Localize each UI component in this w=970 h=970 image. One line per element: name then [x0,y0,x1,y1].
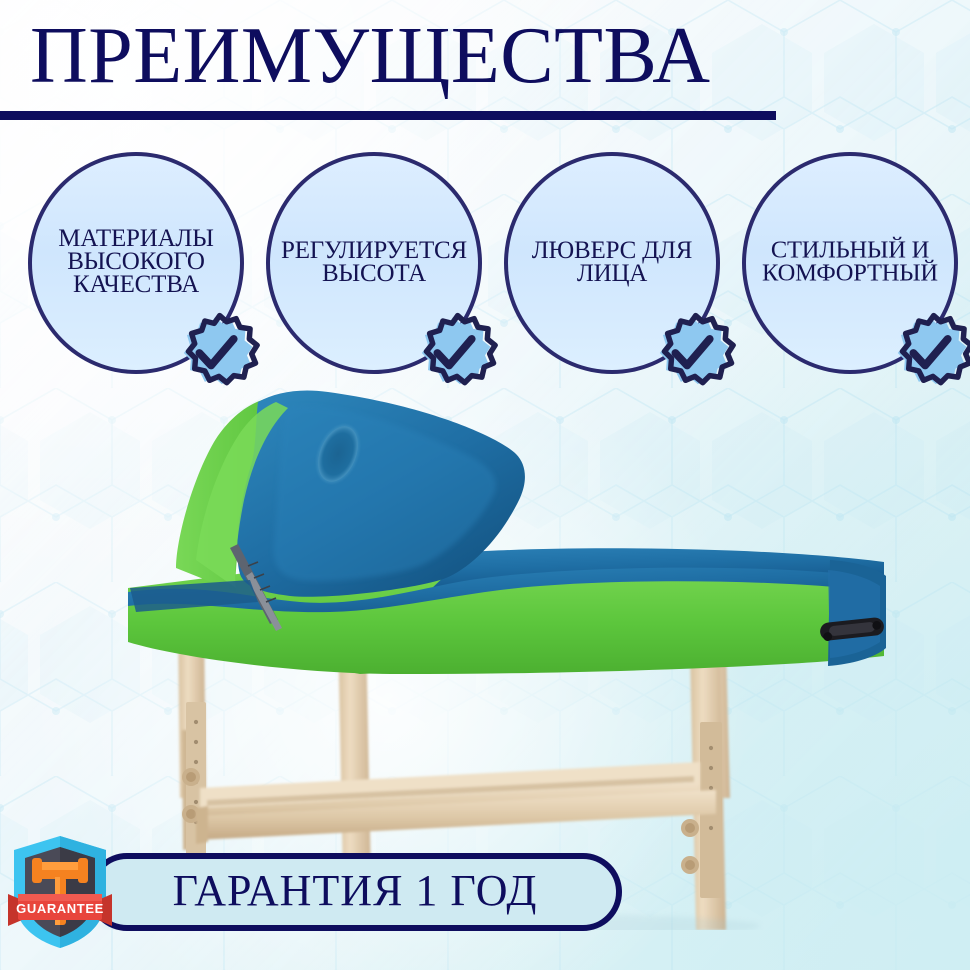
guarantee-shield-gavel-icon: GUARANTEE [8,832,112,950]
guarantee-badge-text: GUARANTEE [16,901,104,916]
feature-line: КОМФОРТНЫЙ [740,262,960,285]
features-row: МАТЕРИАЛЫ ВЫСОКОГО КАЧЕСТВА РЕГУЛИРУЕТСЯ… [0,152,970,382]
feature-circle-adjustable-height[interactable]: РЕГУЛИРУЕТСЯ ВЫСОТА [266,152,482,374]
product-image-massage-table [0,330,970,930]
feature-line: ЛЮВЕРС ДЛЯ [502,239,722,262]
title-underline-rule [0,111,776,120]
feature-label-face-grommet: ЛЮВЕРС ДЛЯ ЛИЦА [502,239,722,285]
guarantee-pill[interactable]: ГАРАНТИЯ 1 ГОД [88,853,622,931]
feature-circle-face-grommet[interactable]: ЛЮВЕРС ДЛЯ ЛИЦА [504,152,720,374]
feature-line: КАЧЕСТВА [26,273,246,296]
feature-line: РЕГУЛИРУЕТСЯ [264,239,484,262]
guarantee-label: ГАРАНТИЯ 1 ГОД [94,859,616,925]
feature-line: ВЫСОТА [264,262,484,285]
feature-line: ВЫСОКОГО [26,250,246,273]
check-badge-icon [414,314,492,392]
check-badge-icon [176,314,254,392]
check-badge-icon [652,314,730,392]
feature-circle-stylish-comfortable[interactable]: СТИЛЬНЫЙ И КОМФОРТНЫЙ [742,152,958,374]
feature-label-stylish-comfortable: СТИЛЬНЫЙ И КОМФОРТНЫЙ [740,240,960,285]
feature-label-materials-quality: МАТЕРИАЛЫ ВЫСОКОГО КАЧЕСТВА [26,227,246,296]
feature-line: МАТЕРИАЛЫ [26,227,246,250]
feature-label-adjustable-height: РЕГУЛИРУЕТСЯ ВЫСОТА [264,239,484,285]
feature-circle-materials-quality[interactable]: МАТЕРИАЛЫ ВЫСОКОГО КАЧЕСТВА [28,152,244,374]
feature-line: ЛИЦА [502,262,722,285]
page-title: ПРЕИМУЩЕСТВА [30,16,711,96]
infographic-canvas: ПРЕИМУЩЕСТВА МАТЕРИАЛЫ ВЫСОКОГО КАЧЕСТВА… [0,0,970,970]
check-badge-icon [890,314,968,392]
